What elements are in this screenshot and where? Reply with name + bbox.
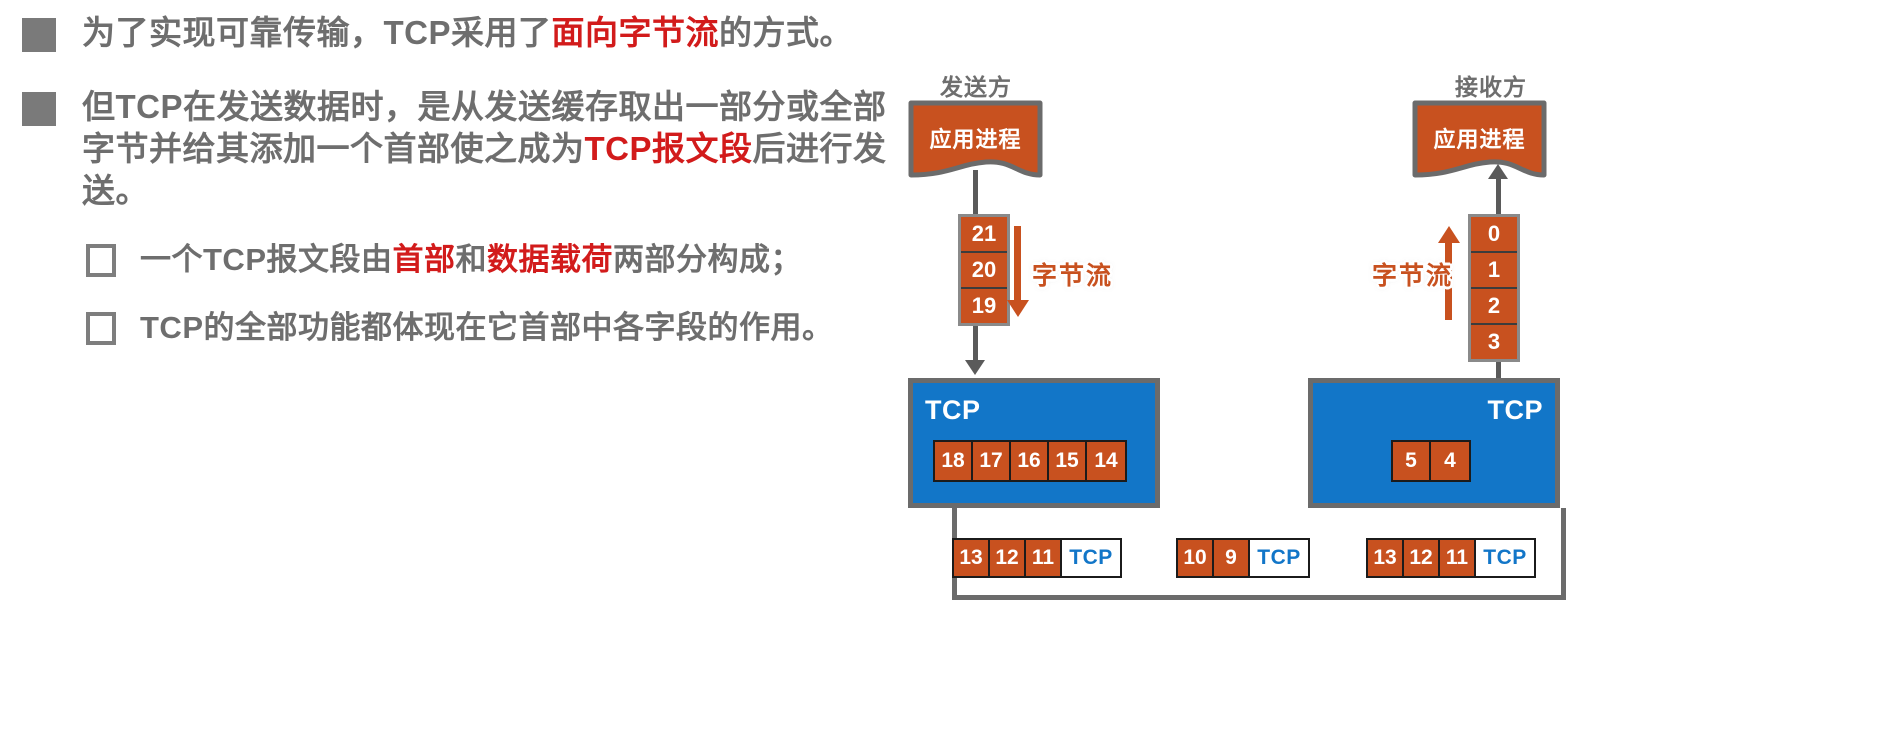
sender-app-process-label: 应用进程 <box>908 122 1043 154</box>
segment-byte-cell: 5 <box>1393 442 1431 480</box>
receiver-uplink-arrowhead-icon <box>1488 164 1508 179</box>
bullet-4-part-1: TCP的全部功能都体现在它首部中各字段的作用。 <box>140 310 834 345</box>
sender-tcp-segment-bytes: 18 17 16 15 14 <box>933 440 1127 482</box>
channel-packet: 13 12 11 TCP <box>952 538 1122 578</box>
segment-byte-cell: 16 <box>1011 442 1049 480</box>
sender-tcp-layer-box: TCP 18 17 16 15 14 <box>908 378 1160 508</box>
bullet-text-column: 为了实现可靠传输，TCP采用了面向字节流的方式。 但TCP在发送数据时，是从发送… <box>0 0 900 470</box>
buffer-byte-cell: 20 <box>961 253 1007 289</box>
filled-square-marker-icon <box>22 92 56 126</box>
sender-byte-stream-arrow-shaft <box>1014 226 1021 304</box>
segment-byte-cell: 17 <box>973 442 1011 480</box>
receiver-app-process-label: 应用进程 <box>1412 122 1547 154</box>
bullet-2-part-2-highlight: TCP报文段 <box>585 130 753 167</box>
bullet-3-part-3: 和 <box>456 242 488 277</box>
bullet-3-part-4-highlight: 数据载荷 <box>487 242 613 277</box>
bullet-item-3: 一个TCP报文段由首部和数据载荷两部分构成； <box>86 240 906 280</box>
bullet-1-text: 为了实现可靠传输，TCP采用了面向字节流的方式。 <box>82 12 853 54</box>
receiver-tcp-label: TCP <box>1488 395 1544 426</box>
buffer-byte-cell: 1 <box>1471 253 1517 289</box>
receiver-application-process-node: 应用进程 <box>1412 100 1547 178</box>
buffer-byte-cell: 19 <box>961 289 1007 323</box>
hollow-square-marker-icon <box>86 312 116 345</box>
sender-byte-stream-label: 字节流 <box>1032 256 1113 292</box>
receiver-tcp-layer-box: TCP 5 4 <box>1308 378 1560 508</box>
packet-byte-cell: 11 <box>1026 540 1062 576</box>
filled-square-marker-icon <box>22 18 56 52</box>
bullet-item-2: 但TCP在发送数据时，是从发送缓存取出一部分或全部字节并给其添加一个首部使之成为… <box>22 86 892 213</box>
channel-packet: 10 9 TCP <box>1176 538 1310 578</box>
segment-byte-cell: 15 <box>1049 442 1087 480</box>
sender-tcp-label: TCP <box>925 395 981 426</box>
packet-byte-cell: 13 <box>954 540 990 576</box>
slide-canvas: 为了实现可靠传输，TCP采用了面向字节流的方式。 但TCP在发送数据时，是从发送… <box>0 0 1880 750</box>
receiver-byte-stream-label: 字节流 <box>1372 256 1453 292</box>
packet-byte-cell: 9 <box>1214 540 1250 576</box>
hollow-square-marker-icon <box>86 244 116 277</box>
sender-send-buffer-column: 21 20 19 <box>958 214 1010 326</box>
packet-tcp-header-cell: TCP <box>1250 540 1308 576</box>
packet-tcp-header-cell: TCP <box>1476 540 1534 576</box>
receiver-receive-buffer-column: 0 1 2 3 <box>1468 214 1520 362</box>
bullet-3-part-1: 一个TCP报文段由 <box>140 242 393 277</box>
segment-byte-cell: 18 <box>935 442 973 480</box>
bullet-4-text: TCP的全部功能都体现在它首部中各字段的作用。 <box>140 308 834 348</box>
segment-byte-cell: 14 <box>1087 442 1125 480</box>
bullet-2-text: 但TCP在发送数据时，是从发送缓存取出一部分或全部字节并给其添加一个首部使之成为… <box>82 86 892 213</box>
sender-downlink-arrowhead-icon <box>965 360 985 375</box>
packet-byte-cell: 10 <box>1178 540 1214 576</box>
channel-packet: 13 12 11 TCP <box>1366 538 1536 578</box>
segment-byte-cell: 4 <box>1431 442 1469 480</box>
receiver-tcp-segment-bytes: 5 4 <box>1391 440 1471 482</box>
sender-byte-stream-arrowhead-icon <box>1007 300 1029 317</box>
packet-byte-cell: 12 <box>1404 540 1440 576</box>
receiver-side-label: 接收方 <box>1455 68 1527 102</box>
packet-byte-cell: 11 <box>1440 540 1476 576</box>
buffer-byte-cell: 3 <box>1471 325 1517 359</box>
buffer-byte-cell: 0 <box>1471 217 1517 253</box>
bullet-3-part-2-highlight: 首部 <box>393 242 456 277</box>
bullet-3-part-5: 两部分构成； <box>613 242 802 277</box>
buffer-byte-cell: 2 <box>1471 289 1517 325</box>
bullet-1-part-3: 的方式。 <box>719 14 853 51</box>
bullet-item-1: 为了实现可靠传输，TCP采用了面向字节流的方式。 <box>22 12 892 54</box>
buffer-byte-cell: 21 <box>961 217 1007 253</box>
bullet-1-part-1: 为了实现可靠传输，TCP采用了 <box>82 14 552 51</box>
sender-side-label: 发送方 <box>940 68 1012 102</box>
bullet-1-part-2-highlight: 面向字节流 <box>552 14 720 51</box>
tcp-byte-stream-diagram: 发送方 接收方 应用进程 应用进程 21 20 19 <box>900 0 1880 750</box>
packet-byte-cell: 13 <box>1368 540 1404 576</box>
sender-application-process-node: 应用进程 <box>908 100 1043 178</box>
bullet-item-4: TCP的全部功能都体现在它首部中各字段的作用。 <box>86 308 906 348</box>
packet-tcp-header-cell: TCP <box>1062 540 1120 576</box>
bullet-3-text: 一个TCP报文段由首部和数据载荷两部分构成； <box>140 240 802 280</box>
packet-byte-cell: 12 <box>990 540 1026 576</box>
receiver-byte-stream-arrowhead-icon <box>1438 226 1460 243</box>
